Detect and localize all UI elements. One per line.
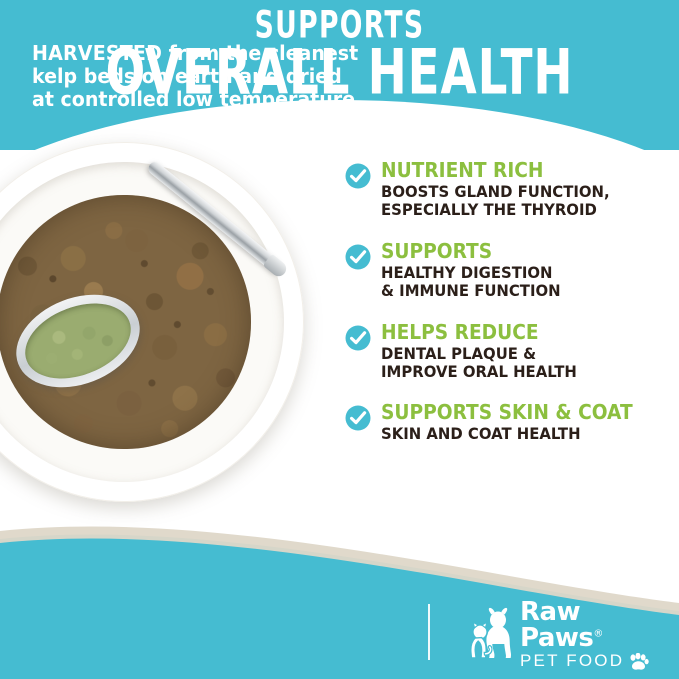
brand-logo[interactable]: Raw Paws® PET FOOD bbox=[462, 604, 662, 666]
benefit-text: SUPPORTS HEALTHY DIGESTION & IMMUNE FUNC… bbox=[381, 241, 675, 300]
check-circle-icon bbox=[345, 325, 371, 351]
logo-brand-text: Raw Paws bbox=[520, 597, 593, 653]
product-photo bbox=[0, 120, 360, 550]
footer-lead-rest: from the cleanest bbox=[162, 41, 358, 65]
registered-trademark-icon: ® bbox=[593, 629, 603, 640]
footer-tagline: HARVESTED from the cleanest kelp beds on… bbox=[32, 42, 393, 112]
benefit-title: NUTRIENT RICH bbox=[381, 160, 654, 181]
footer-lead-word: HARVESTED bbox=[32, 41, 162, 65]
benefit-description: BOOSTS GLAND FUNCTION, ESPECIALLY THE TH… bbox=[381, 183, 654, 219]
benefit-desc-line: DENTAL PLAQUE & bbox=[381, 345, 654, 363]
check-circle-icon bbox=[345, 163, 371, 189]
benefit-item: NUTRIENT RICH BOOSTS GLAND FUNCTION, ESP… bbox=[345, 160, 675, 219]
footer-tagline-line-1: HARVESTED from the cleanest bbox=[32, 42, 393, 65]
check-circle-icon bbox=[345, 405, 371, 431]
benefit-item: SUPPORTS SKIN & COAT SKIN AND COAT HEALT… bbox=[345, 402, 675, 443]
benefit-desc-line: HEALTHY DIGESTION bbox=[381, 264, 654, 282]
footer-tagline-line-3: at controlled low temperature bbox=[32, 88, 393, 111]
benefit-title: SUPPORTS bbox=[381, 241, 654, 262]
benefit-desc-line: BOOSTS GLAND FUNCTION, bbox=[381, 183, 654, 201]
benefit-description: HEALTHY DIGESTION & IMMUNE FUNCTION bbox=[381, 264, 654, 300]
check-circle-icon bbox=[345, 244, 371, 270]
benefit-text: NUTRIENT RICH BOOSTS GLAND FUNCTION, ESP… bbox=[381, 160, 675, 219]
benefit-desc-line: IMPROVE ORAL HEALTH bbox=[381, 363, 654, 381]
benefit-text: SUPPORTS SKIN & COAT SKIN AND COAT HEALT… bbox=[381, 402, 675, 443]
infographic-root: SUPPORTS OVERALL HEALTH N bbox=[0, 0, 679, 679]
benefit-text: HELPS REDUCE DENTAL PLAQUE & IMPROVE ORA… bbox=[381, 322, 675, 381]
benefit-desc-line: ESPECIALLY THE THYROID bbox=[381, 201, 654, 219]
benefit-item: SUPPORTS HEALTHY DIGESTION & IMMUNE FUNC… bbox=[345, 241, 675, 300]
footer-divider bbox=[428, 604, 430, 660]
logo-subtitle: PET FOOD bbox=[520, 652, 624, 671]
logo-wordmark: Raw Paws® PET FOOD bbox=[520, 599, 662, 671]
paw-print-icon bbox=[629, 653, 649, 671]
benefit-item: HELPS REDUCE DENTAL PLAQUE & IMPROVE ORA… bbox=[345, 322, 675, 381]
benefit-desc-line: SKIN AND COAT HEALTH bbox=[381, 425, 654, 443]
benefit-desc-line: & IMMUNE FUNCTION bbox=[381, 282, 654, 300]
dog-and-cat-silhouette-icon bbox=[462, 607, 518, 663]
benefit-title: SUPPORTS SKIN & COAT bbox=[381, 402, 654, 423]
logo-subtitle-row: PET FOOD bbox=[520, 652, 662, 671]
benefit-description: SKIN AND COAT HEALTH bbox=[381, 425, 654, 443]
footer-tagline-line-2: kelp beds on earth and dried bbox=[32, 65, 393, 88]
benefit-description: DENTAL PLAQUE & IMPROVE ORAL HEALTH bbox=[381, 345, 654, 381]
benefits-list: NUTRIENT RICH BOOSTS GLAND FUNCTION, ESP… bbox=[345, 160, 675, 443]
benefit-title: HELPS REDUCE bbox=[381, 322, 654, 343]
logo-brand-name: Raw Paws® bbox=[520, 599, 662, 651]
